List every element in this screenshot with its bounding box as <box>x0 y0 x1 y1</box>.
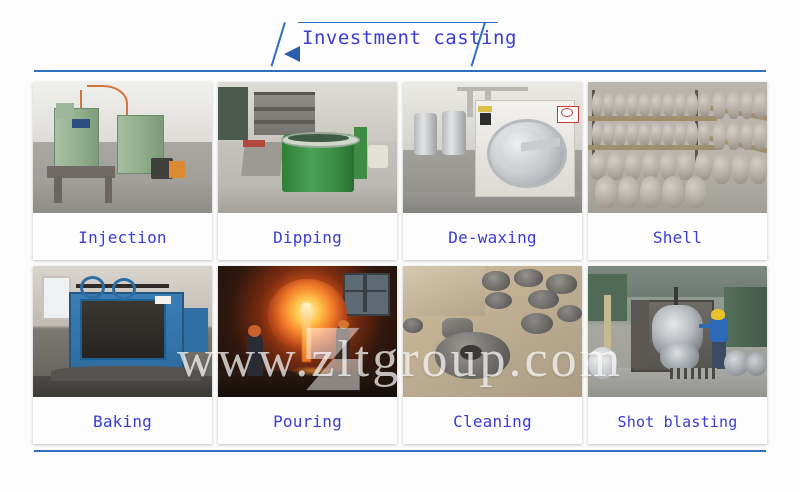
top-divider <box>34 70 766 72</box>
process-photo-injection <box>33 82 212 213</box>
process-grid: Injection Dipping <box>33 82 767 444</box>
process-label-shot-blasting: Shot blasting <box>588 399 767 444</box>
process-label-injection: Injection <box>33 215 212 260</box>
process-card-dewaxing[interactable]: De-waxing <box>403 82 582 260</box>
banner-top-line <box>298 22 498 23</box>
process-label-dewaxing: De-waxing <box>403 215 582 260</box>
bottom-divider <box>34 450 766 452</box>
process-photo-dipping <box>218 82 397 213</box>
left-arrow-icon <box>284 46 300 62</box>
process-card-injection[interactable]: Injection <box>33 82 212 260</box>
process-label-baking: Baking <box>33 399 212 444</box>
process-photo-shell <box>588 82 767 213</box>
process-photo-baking <box>33 266 212 397</box>
process-photo-pouring <box>218 266 397 397</box>
process-card-shell[interactable]: Shell <box>588 82 767 260</box>
process-label-shell: Shell <box>588 215 767 260</box>
process-label-cleaning: Cleaning <box>403 399 582 444</box>
process-photo-dewaxing <box>403 82 582 213</box>
process-photo-shot-blasting <box>588 266 767 397</box>
process-card-cleaning[interactable]: Cleaning <box>403 266 582 444</box>
process-card-baking[interactable]: Baking <box>33 266 212 444</box>
title-banner-zone: Investment casting <box>0 18 800 70</box>
page-title: Investment casting <box>302 27 494 49</box>
process-label-pouring: Pouring <box>218 399 397 444</box>
process-label-dipping: Dipping <box>218 215 397 260</box>
process-photo-cleaning <box>403 266 582 397</box>
process-card-shot-blasting[interactable]: Shot blasting <box>588 266 767 444</box>
title-banner: Investment casting <box>284 22 504 66</box>
process-card-dipping[interactable]: Dipping <box>218 82 397 260</box>
process-card-pouring[interactable]: Pouring <box>218 266 397 444</box>
